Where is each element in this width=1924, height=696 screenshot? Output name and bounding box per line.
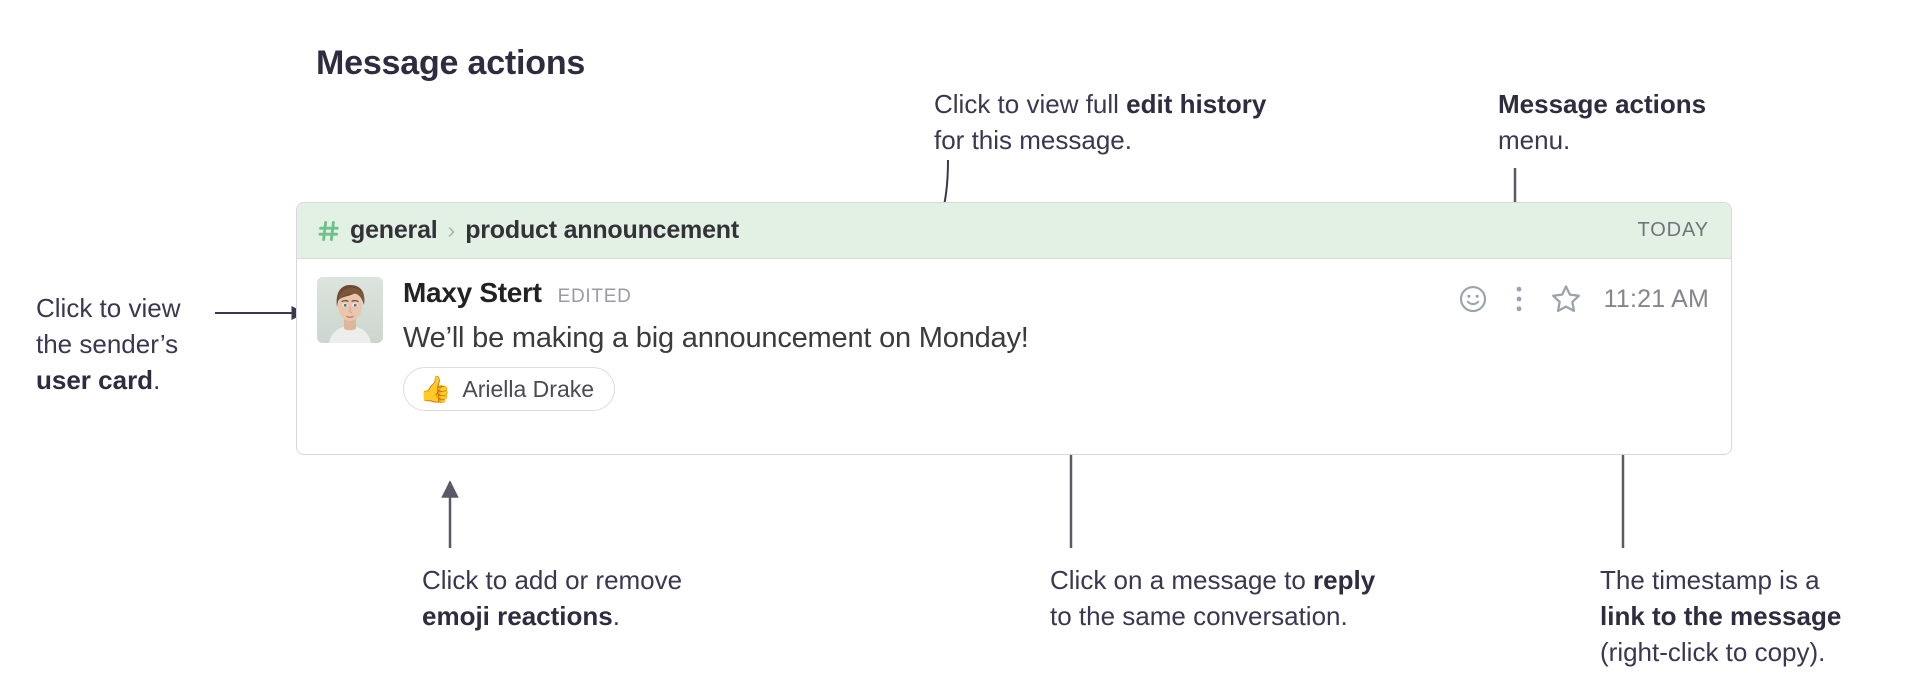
annotation-prefix: The timestamp is a xyxy=(1600,565,1820,595)
annotation-timestamp-link: The timestamp is a link to the message (… xyxy=(1600,562,1841,670)
reaction-list: 👍 Ariella Drake xyxy=(403,367,1709,411)
header-date-label: TODAY xyxy=(1637,219,1709,242)
annotation-suffix: (right-click to copy). xyxy=(1600,637,1825,667)
annotation-emphasis: edit history xyxy=(1126,89,1266,119)
vertical-ellipsis-icon xyxy=(1514,284,1524,314)
topic-name[interactable]: product announcement xyxy=(465,216,739,245)
annotation-prefix: Click on a message to xyxy=(1050,565,1313,595)
annotation-emphasis: link to the message xyxy=(1600,601,1841,631)
stream-topic-header[interactable]: general › product announcement TODAY xyxy=(297,203,1731,259)
message-row[interactable]: Maxy Stert EDITED We’ll be making a big … xyxy=(297,259,1731,411)
annotation-reply: Click on a message to reply to the same … xyxy=(1050,562,1375,634)
annotation-prefix: Click to add or remove xyxy=(422,565,682,595)
annotation-emphasis: user card xyxy=(36,365,153,395)
annotation-actions-menu: Message actions menu. xyxy=(1498,86,1706,158)
chevron-right-icon: › xyxy=(448,219,456,242)
annotation-suffix: . xyxy=(153,365,160,395)
reaction-pill[interactable]: 👍 Ariella Drake xyxy=(403,367,615,411)
hash-icon xyxy=(317,219,341,243)
annotation-user-card: Click to view the sender’s user card. xyxy=(36,290,180,398)
timestamp[interactable]: 11:21 AM xyxy=(1604,285,1709,314)
sender-name[interactable]: Maxy Stert xyxy=(403,277,542,309)
annotation-prefix: Click to view the sender’s xyxy=(36,293,180,359)
annotation-suffix: . xyxy=(613,601,620,631)
annotation-edit-history: Click to view full edit history for this… xyxy=(934,86,1266,158)
message-card: general › product announcement TODAY xyxy=(296,202,1732,455)
actions-menu-icon[interactable] xyxy=(1514,284,1550,314)
annotation-emphasis: emoji reactions xyxy=(422,601,613,631)
annotation-suffix: menu. xyxy=(1498,125,1570,155)
avatar-photo xyxy=(317,277,383,343)
annotation-suffix: to the same conversation. xyxy=(1050,601,1348,631)
emoji-react-icon[interactable] xyxy=(1458,284,1514,314)
reaction-label: Ariella Drake xyxy=(462,376,594,403)
message-controls: 11:21 AM xyxy=(1458,283,1709,315)
message-text[interactable]: We’ll be making a big announcement on Mo… xyxy=(403,319,1709,357)
thumbs-up-icon: 👍 xyxy=(419,376,451,402)
star-icon[interactable] xyxy=(1550,283,1604,315)
smiley-face-icon xyxy=(1458,284,1488,314)
annotation-prefix: Click to view full xyxy=(934,89,1126,119)
annotation-emoji-reactions: Click to add or remove emoji reactions. xyxy=(422,562,682,634)
stream-name[interactable]: general xyxy=(350,216,438,245)
annotation-emphasis: reply xyxy=(1313,565,1375,595)
annotation-emphasis: Message actions xyxy=(1498,89,1706,119)
avatar[interactable] xyxy=(317,277,383,343)
edited-label[interactable]: EDITED xyxy=(558,286,632,308)
page-title: Message actions xyxy=(316,44,585,83)
star-outline-icon xyxy=(1550,283,1582,315)
annotation-suffix: for this message. xyxy=(934,125,1132,155)
